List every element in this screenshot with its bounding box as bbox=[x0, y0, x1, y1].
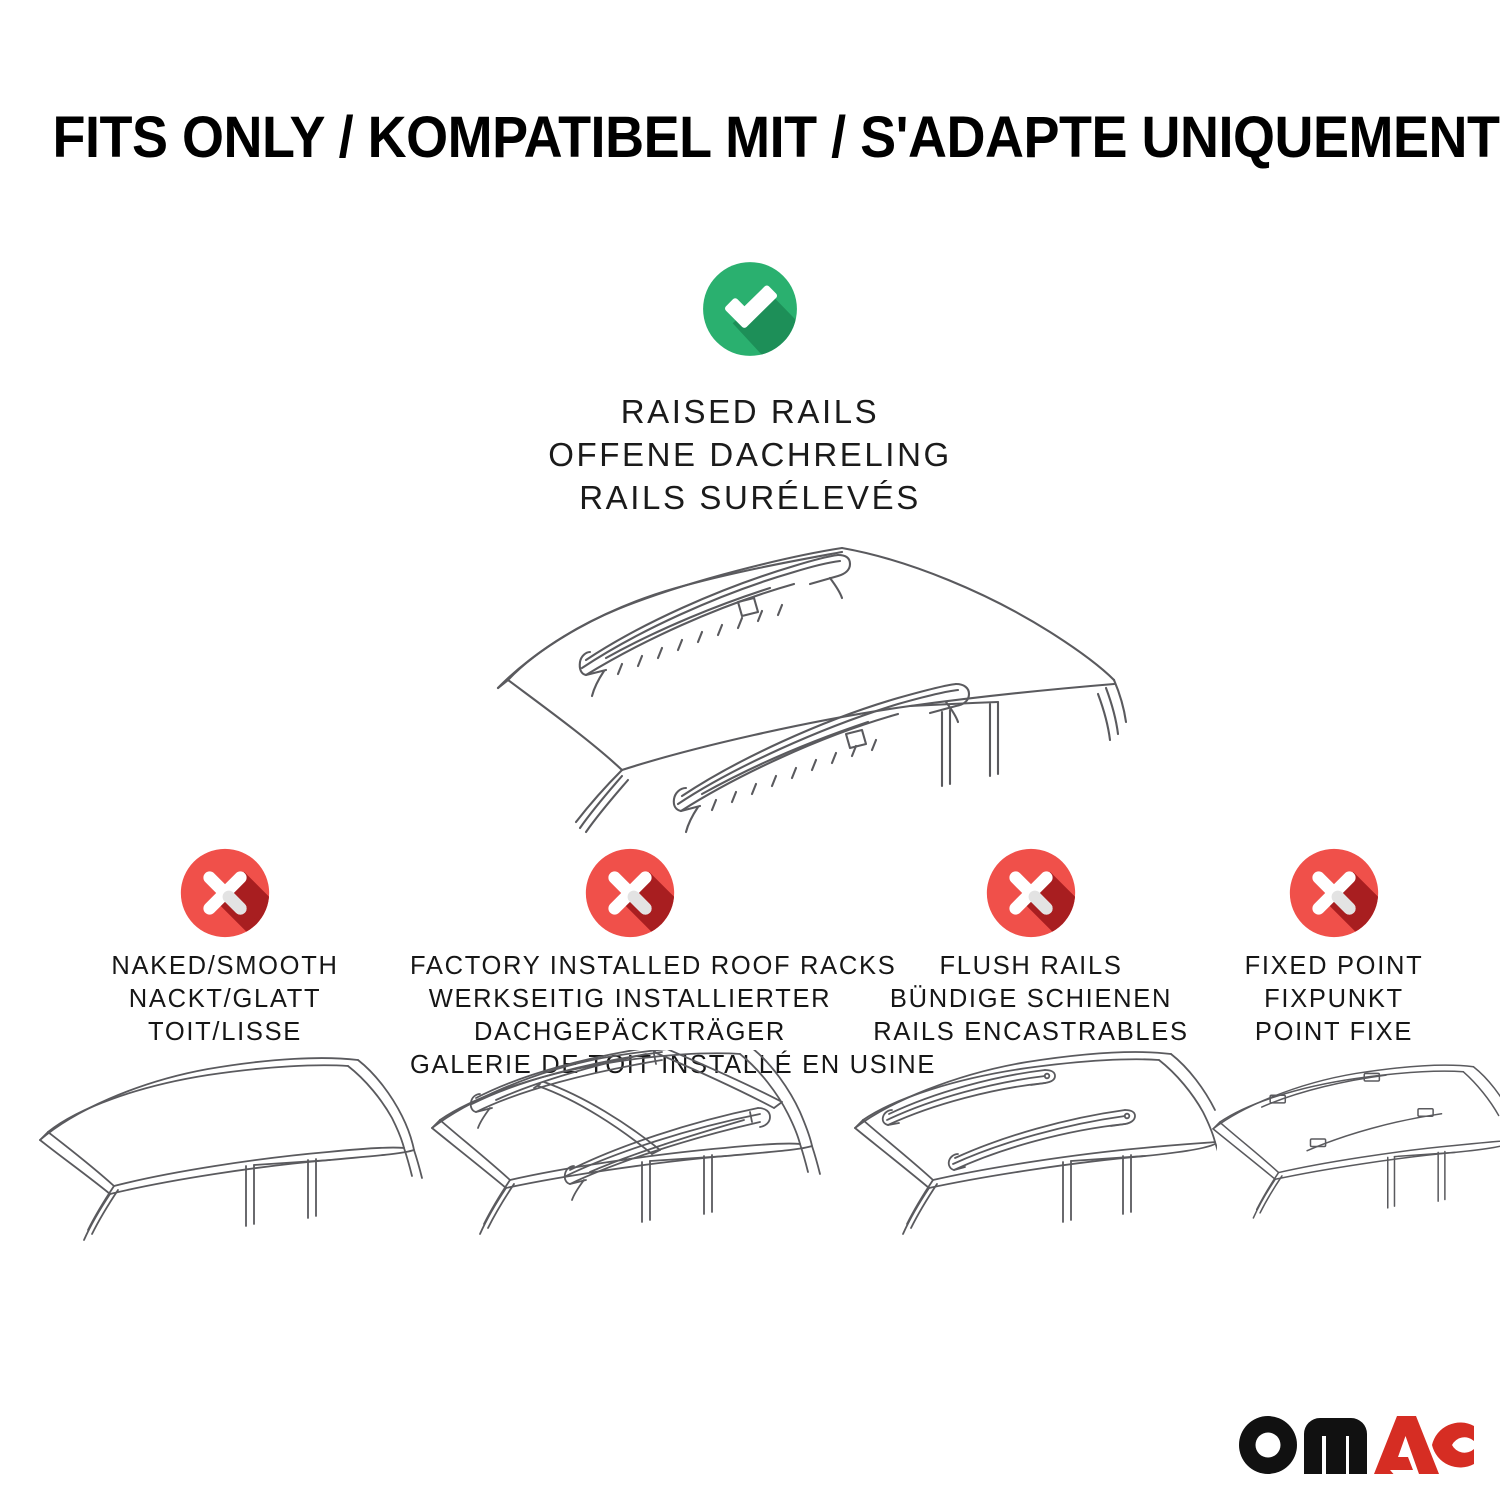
label-line-1: FACTORY INSTALLED ROOF RACKS bbox=[410, 950, 850, 983]
car-roof-raised-rails-illustration bbox=[390, 508, 1130, 838]
car-roof-naked-illustration bbox=[18, 1050, 432, 1285]
incompatible-section: NAKED/SMOOTH NACKT/GLATT TOIT/LISSE bbox=[0, 845, 1500, 1265]
red-x-circle-icon bbox=[983, 845, 1079, 941]
incompatible-label-fixed-point: FIXED POINT FIXPUNKT POINT FIXE bbox=[1208, 950, 1460, 1049]
label-line-1: NAKED/SMOOTH bbox=[18, 950, 432, 983]
label-line-3: POINT FIXE bbox=[1208, 1016, 1460, 1049]
label-line-2: BÜNDIGE SCHIENEN bbox=[845, 983, 1217, 1016]
label-line-1: FIXED POINT bbox=[1208, 950, 1460, 983]
incompatible-item-naked-smooth: NAKED/SMOOTH NACKT/GLATT TOIT/LISSE bbox=[18, 845, 432, 1049]
car-roof-fixed-point-illustration bbox=[1208, 1050, 1460, 1285]
incompatible-item-fixed-point: FIXED POINT FIXPUNKT POINT FIXE bbox=[1208, 845, 1460, 1049]
incompatible-label-flush-rails: FLUSH RAILS BÜNDIGE SCHIENEN RAILS ENCAS… bbox=[845, 950, 1217, 1049]
car-roof-flush-rails-illustration bbox=[845, 1050, 1217, 1285]
label-line-3: RAILS ENCASTRABLES bbox=[845, 1016, 1217, 1049]
red-x-circle-icon bbox=[177, 845, 273, 941]
incompatible-item-factory-roof-racks: FACTORY INSTALLED ROOF RACKS WERKSEITIG … bbox=[410, 845, 850, 1083]
label-line-3: TOIT/LISSE bbox=[18, 1016, 432, 1049]
red-x-circle-icon bbox=[1286, 845, 1382, 941]
compatible-label-line-1: RAISED RAILS bbox=[0, 391, 1500, 434]
green-check-circle-icon bbox=[699, 258, 801, 360]
red-x-circle-icon bbox=[582, 845, 678, 941]
omac-logo bbox=[1238, 1412, 1474, 1478]
incompatible-item-flush-rails: FLUSH RAILS BÜNDIGE SCHIENEN RAILS ENCAS… bbox=[845, 845, 1217, 1049]
incompatible-label-naked-smooth: NAKED/SMOOTH NACKT/GLATT TOIT/LISSE bbox=[18, 950, 432, 1049]
car-roof-factory-racks-illustration bbox=[410, 1050, 850, 1285]
compatible-label: RAISED RAILS OFFENE DACHRELING RAILS SUR… bbox=[0, 391, 1500, 520]
compatible-label-line-2: OFFENE DACHRELING bbox=[0, 434, 1500, 477]
label-line-3: DACHGEPÄCKTRÄGER bbox=[410, 1016, 850, 1049]
page-title: FITS ONLY / KOMPATIBEL MIT / S'ADAPTE UN… bbox=[53, 104, 1448, 171]
label-line-1: FLUSH RAILS bbox=[845, 950, 1217, 983]
label-line-2: WERKSEITIG INSTALLIERTER bbox=[410, 983, 850, 1016]
label-line-2: FIXPUNKT bbox=[1208, 983, 1460, 1016]
compatible-section: RAISED RAILS OFFENE DACHRELING RAILS SUR… bbox=[0, 258, 1500, 520]
label-line-2: NACKT/GLATT bbox=[18, 983, 432, 1016]
